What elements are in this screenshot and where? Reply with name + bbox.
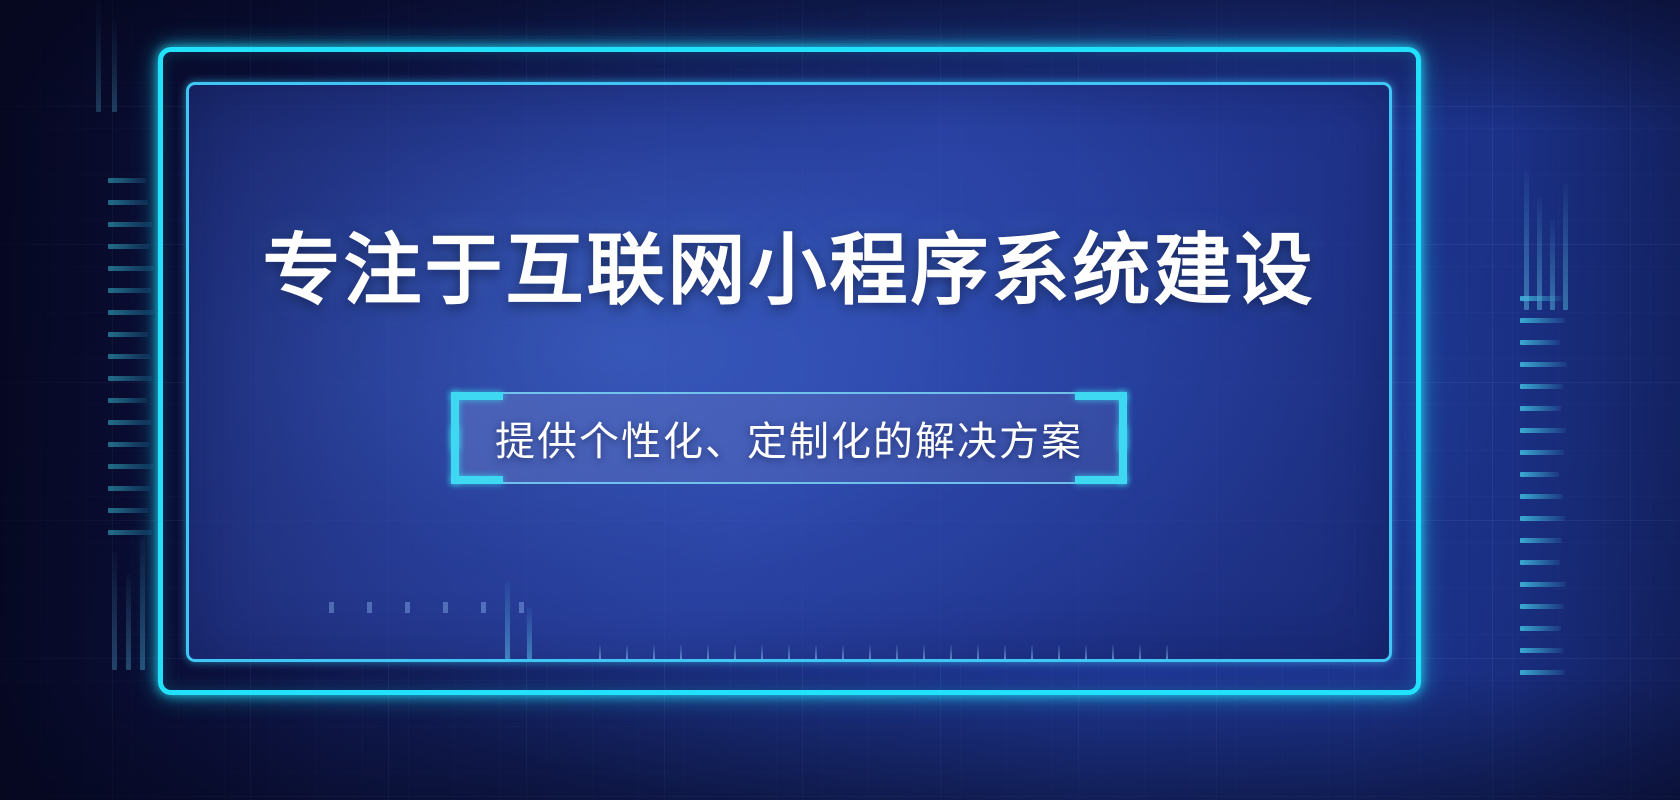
tick-mark bbox=[1520, 648, 1563, 653]
corner-bracket-bottom-left-vertical bbox=[451, 426, 459, 484]
tick-mark bbox=[108, 288, 151, 293]
tick-mark bbox=[1520, 384, 1563, 389]
inner-neon-frame: 专注于互联网小程序系统建设 提供个性化、定制化的解决方案 bbox=[186, 82, 1392, 662]
top-left-vertical-bars-decoration bbox=[96, 0, 136, 112]
vertical-bar bbox=[1550, 220, 1555, 310]
tick-mark bbox=[108, 530, 152, 535]
tick-mark bbox=[108, 332, 148, 337]
tick-mark bbox=[1520, 494, 1563, 499]
tick-mark bbox=[108, 486, 150, 491]
tick-mark bbox=[1520, 516, 1565, 521]
tick-mark bbox=[1520, 428, 1566, 433]
tick-mark bbox=[1520, 604, 1564, 609]
vertical-bar bbox=[112, 18, 117, 112]
tick-mark bbox=[108, 310, 153, 315]
vertical-bar bbox=[140, 538, 145, 670]
vertical-bar bbox=[1563, 184, 1568, 310]
tick-mark bbox=[1520, 472, 1559, 477]
vertical-bar bbox=[112, 552, 117, 670]
tick-mark bbox=[108, 354, 150, 359]
tick-mark bbox=[1520, 538, 1562, 543]
tick-mark bbox=[108, 200, 148, 205]
tick-mark bbox=[1520, 626, 1561, 631]
tick-mark bbox=[1520, 670, 1565, 675]
banner-stage: 专注于互联网小程序系统建设 提供个性化、定制化的解决方案 bbox=[0, 0, 1680, 800]
tick-mark bbox=[108, 222, 152, 227]
right-vertical-bars-decoration bbox=[1524, 150, 1584, 310]
tick-mark bbox=[1520, 560, 1560, 565]
corner-bracket-bottom-right-vertical bbox=[1119, 426, 1127, 484]
tick-mark bbox=[108, 420, 151, 425]
tick-mark bbox=[1520, 450, 1564, 455]
tick-mark bbox=[108, 398, 147, 403]
vertical-bar bbox=[96, 0, 101, 112]
plate-bottom-edge bbox=[451, 482, 1127, 484]
right-tick-column-decoration bbox=[1520, 296, 1580, 736]
tick-mark bbox=[108, 376, 152, 381]
plate-top-edge bbox=[451, 392, 1127, 394]
tick-mark bbox=[1520, 362, 1567, 367]
tick-mark bbox=[108, 442, 149, 447]
tick-mark bbox=[108, 508, 148, 513]
tick-mark bbox=[108, 244, 149, 249]
tick-mark bbox=[1520, 340, 1560, 345]
vertical-bar bbox=[1537, 198, 1542, 310]
tick-mark bbox=[108, 266, 154, 271]
vertical-bar bbox=[126, 574, 131, 670]
vertical-bar bbox=[1524, 170, 1529, 310]
banner-content: 专注于互联网小程序系统建设 提供个性化、定制化的解决方案 bbox=[189, 85, 1389, 659]
tick-mark bbox=[108, 178, 146, 183]
tick-mark bbox=[108, 464, 153, 469]
page-title: 专注于互联网小程序系统建设 bbox=[262, 208, 1315, 320]
subtitle-plate: 提供个性化、定制化的解决方案 bbox=[451, 392, 1127, 484]
tick-mark bbox=[1520, 406, 1561, 411]
tick-mark bbox=[1520, 318, 1565, 323]
tick-mark bbox=[1520, 296, 1562, 301]
tick-mark bbox=[1520, 582, 1566, 587]
page-subtitle: 提供个性化、定制化的解决方案 bbox=[495, 409, 1083, 467]
